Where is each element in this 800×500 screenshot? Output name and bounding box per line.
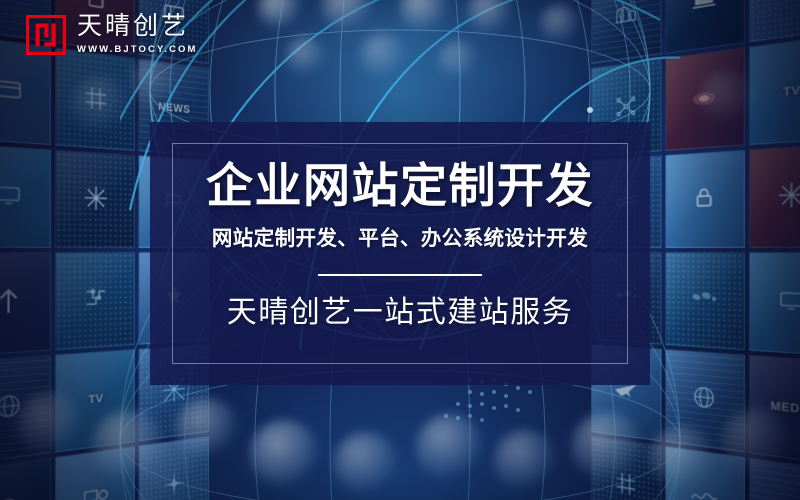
globe-icon — [0, 391, 22, 426]
media-tile: MEDIA — [749, 355, 800, 465]
media-tile — [749, 0, 800, 42]
headline-title: 企业网站定制开发 — [206, 162, 594, 211]
nebula-icon — [691, 85, 717, 116]
headline-panel: 企业网站定制开发 网站定制开发、平台、办公系统设计开发 天晴创艺一站式建站服务 — [150, 122, 650, 385]
tile-label: MEDIA — [770, 400, 800, 418]
media-tile — [0, 252, 51, 356]
media-tile — [0, 144, 51, 248]
media-tile: TV — [749, 35, 800, 145]
media-tile — [0, 355, 51, 465]
headline-subtitle: 网站定制开发、平台、办公系统设计开发 — [212, 229, 588, 250]
media-tile — [749, 252, 800, 356]
screen-icon — [0, 183, 22, 212]
logo-website-url: WWW.BJTOCY.COM — [77, 44, 198, 55]
tile-dot-texture — [750, 0, 800, 41]
media-tile — [749, 144, 800, 248]
media-tile — [749, 458, 800, 500]
headline-tagline: 天晴创艺一站式建站服务 — [227, 298, 574, 328]
fingerprint-icon — [0, 496, 21, 500]
grid-icon — [84, 84, 108, 117]
logo-company-name: 天晴创艺 — [77, 14, 198, 39]
media-tile — [0, 458, 51, 500]
laptop-icon — [691, 0, 717, 16]
banner: NEWSTV TVMEDIA — [0, 0, 800, 500]
screen-icon — [778, 288, 800, 317]
tile-line-texture — [750, 459, 800, 500]
tile-label: TV — [783, 84, 800, 99]
logo[interactable]: 天晴创艺 WWW.BJTOCY.COM — [26, 14, 198, 55]
headline-divider — [318, 274, 482, 276]
card-icon — [0, 77, 22, 106]
burst-icon — [778, 180, 800, 214]
arrow-up-icon — [0, 285, 20, 321]
logo-mark-icon — [26, 15, 66, 55]
panel-content: 企业网站定制开发 网站定制开发、平台、办公系统设计开发 天晴创艺一站式建站服务 — [150, 122, 650, 385]
